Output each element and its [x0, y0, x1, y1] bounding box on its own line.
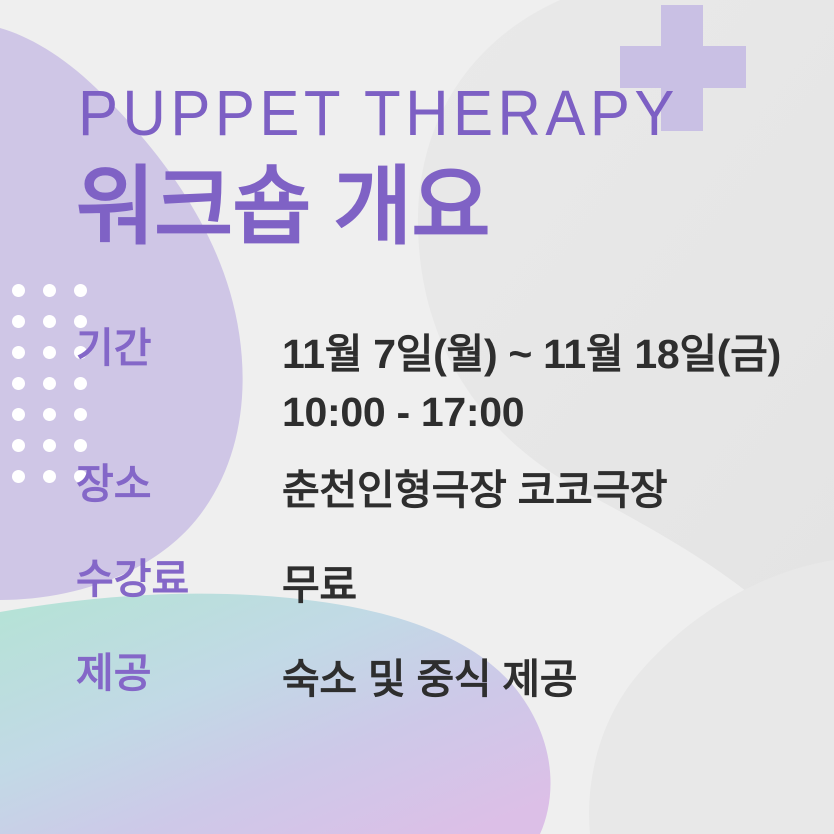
poster-canvas: PUPPET THERAPY 워크숍 개요 기간 11월 7일(월) ~ 11월…	[0, 0, 834, 834]
info-value-provide: 숙소 및 중식 제공	[282, 650, 577, 708]
info-row-fee: 수강료 무료	[0, 556, 834, 614]
dot	[74, 284, 87, 297]
info-value-place: 춘천인형극장 코코극장	[282, 461, 667, 519]
info-row-period: 기간 11월 7일(월) ~ 11월 18일(금) 10:00 - 17:00	[0, 325, 834, 441]
page-title: 워크숍 개요	[76, 160, 490, 255]
info-row-provide: 제공 숙소 및 중식 제공	[0, 650, 834, 708]
info-label-fee: 수강료	[76, 556, 244, 603]
eyebrow-title: PUPPET THERAPY	[78, 82, 679, 146]
info-value-period: 11월 7일(월) ~ 11월 18일(금) 10:00 - 17:00	[282, 325, 781, 441]
info-label-place: 장소	[76, 461, 244, 508]
info-value-fee: 무료	[282, 556, 357, 614]
dot	[12, 284, 25, 297]
info-label-period: 기간	[76, 325, 244, 372]
info-row-place: 장소 춘천인형극장 코코극장	[0, 461, 834, 519]
dot	[43, 284, 56, 297]
info-label-provide: 제공	[76, 650, 244, 697]
info-list: 기간 11월 7일(월) ~ 11월 18일(금) 10:00 - 17:00 …	[0, 325, 834, 708]
